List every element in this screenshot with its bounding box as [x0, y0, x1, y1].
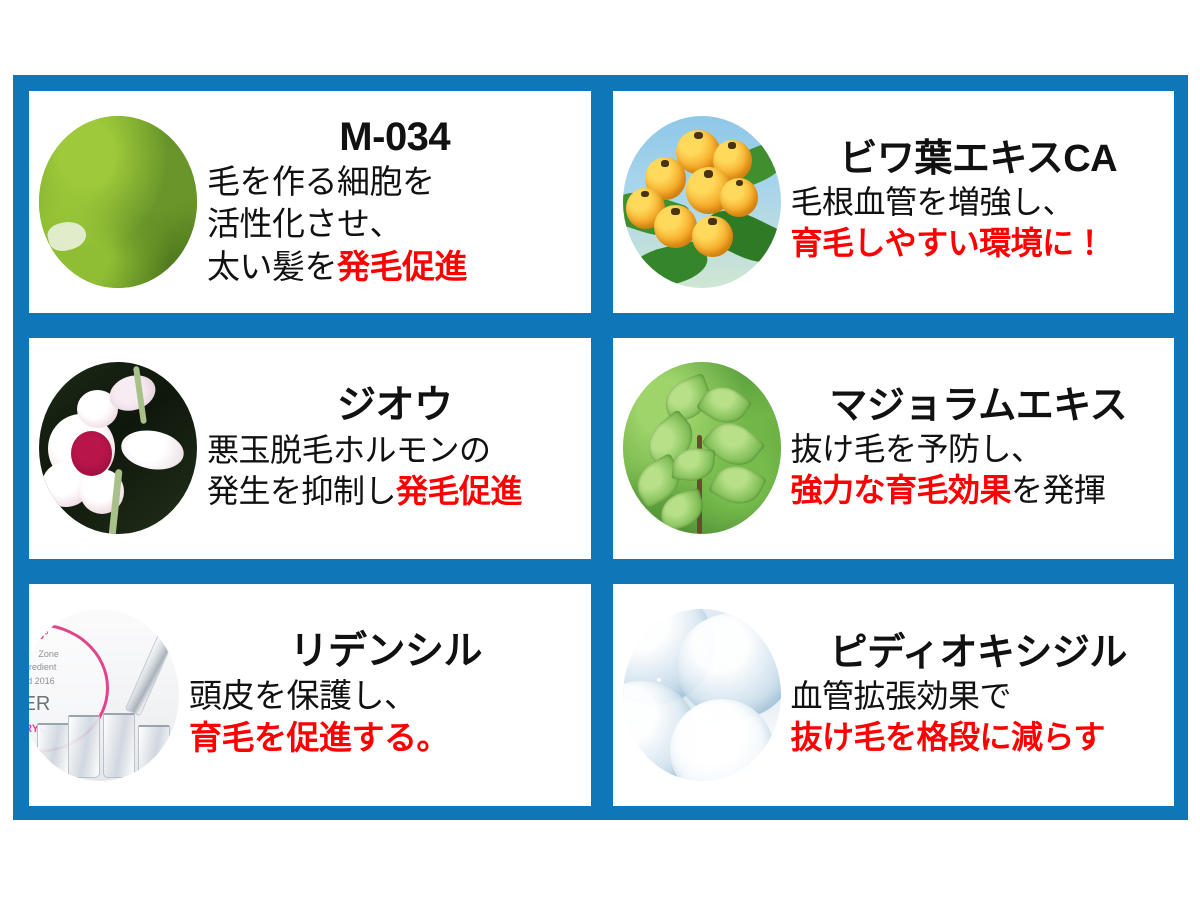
desc-span: 血管拡張効果で	[791, 678, 1012, 714]
ingredient-card-m034[interactable]: M-034 毛を作る細胞を 活性化させ、 太い髪を発毛促進	[29, 91, 591, 313]
m034-copy: M-034 毛を作る細胞を 活性化させ、 太い髪を発毛促進	[203, 116, 585, 288]
desc-highlight: 育毛を促進する。	[189, 719, 449, 756]
desc-highlight: 強力な育毛効果	[791, 472, 1012, 508]
pidioxidil-copy: ピディオキシジル 血管拡張効果で 抜け毛を格段に減らす	[787, 633, 1169, 758]
desc-span: 頭皮を保護し、	[189, 677, 417, 714]
desc-line: 活性化させ、	[207, 203, 583, 245]
desc-line: 血管拡張効果で	[791, 676, 1167, 717]
rehmannia-flower-photo	[39, 362, 197, 534]
desc-span: 悪玉脱毛ホルモンの	[207, 432, 491, 468]
desc-highlight: 抜け毛を格段に減らす	[791, 719, 1105, 755]
ingredient-grid: M-034 毛を作る細胞を 活性化させ、 太い髪を発毛促進	[13, 75, 1188, 820]
petal-shape	[118, 426, 187, 474]
ingredient-card-marjoram[interactable]: マジョラムエキス 抜け毛を予防し、 強力な育毛効果を発揮	[613, 338, 1175, 560]
ingredient-title: ジオウ	[207, 385, 583, 427]
ingredient-card-jiou[interactable]: ジオウ 悪玉脱毛ホルモンの 発生を抑制し発毛促進	[29, 338, 591, 560]
test-tube	[103, 713, 135, 778]
desc-span: 太い髪を	[207, 248, 337, 285]
pidioxidil-thumbnail	[623, 609, 781, 781]
ingredient-title: ピディオキシジル	[791, 633, 1167, 674]
test-tube	[37, 723, 69, 778]
ingredient-card-biwa[interactable]: ビワ葉エキスCA 毛根血管を増強し、 育毛しやすい環境に！	[613, 91, 1175, 313]
pipette-shape	[125, 624, 179, 717]
desc-highlight: 発毛促進	[396, 473, 522, 509]
badge-line: Zone	[38, 649, 59, 659]
marjoram-copy: マジョラムエキス 抜け毛を予防し、 強力な育毛効果を発揮	[787, 386, 1169, 511]
desc-line: 毛を作る細胞を	[207, 161, 583, 203]
desc-line: 抜け毛を格段に減らす	[791, 717, 1167, 758]
badge-line: ER	[29, 693, 50, 716]
desc-line: 抜け毛を予防し、	[791, 429, 1167, 470]
marjoram-herb-photo	[623, 362, 781, 534]
biwa-copy: ビワ葉エキスCA 毛根血管を増強し、 育毛しやすい環境に！	[787, 139, 1169, 264]
desc-highlight: 育毛しやすい環境に！	[791, 225, 1106, 261]
desc-span: 毛根血管を増強し、	[791, 184, 1075, 220]
laboratory-pipette-photo: S° Zone redient rd 2016 ER RYL	[29, 609, 179, 781]
desc-line: 育毛を促進する。	[189, 717, 583, 759]
desc-line: 太い髪を発毛促進	[207, 246, 583, 288]
desc-line: 育毛しやすい環境に！	[791, 223, 1167, 264]
badge-line: rd 2016	[29, 676, 55, 686]
desc-line: 頭皮を保護し、	[189, 675, 583, 717]
ingredient-title: マジョラムエキス	[791, 386, 1167, 427]
bubble-speck	[714, 668, 718, 672]
redensyl-thumbnail: S° Zone redient rd 2016 ER RYL	[29, 609, 179, 781]
loquat-fruit-photo	[623, 116, 781, 288]
marjoram-thumbnail	[623, 362, 781, 534]
ingredient-card-pidioxidil[interactable]: ピディオキシジル 血管拡張効果で 抜け毛を格段に減らす	[613, 584, 1175, 806]
badge-line: redient	[29, 662, 56, 672]
desc-span: を発揮	[1011, 472, 1106, 508]
desc-span: 発生を抑制し	[207, 473, 396, 509]
fruit-shape	[692, 216, 733, 257]
desc-line: 毛根血管を増強し、	[791, 182, 1167, 223]
flower-core	[71, 431, 112, 476]
desc-span: 活性化させ、	[207, 205, 402, 242]
desc-line: 発生を抑制し発毛促進	[207, 471, 583, 512]
test-tube	[68, 715, 100, 778]
desc-line: 強力な育毛効果を発揮	[791, 470, 1167, 511]
green-seaweed-leaves-photo	[39, 116, 197, 288]
ingredient-title: リデンシル	[189, 631, 583, 673]
fruit-shape	[720, 178, 758, 218]
jiou-copy: ジオウ 悪玉脱毛ホルモンの 発生を抑制し発毛促進	[203, 385, 585, 511]
biwa-thumbnail	[623, 116, 781, 288]
m034-thumbnail	[39, 116, 197, 288]
desc-span: 抜け毛を予防し、	[791, 431, 1043, 467]
redensyl-copy: リデンシル 頭皮を保護し、 育毛を促進する。	[185, 631, 585, 760]
test-tube	[138, 725, 170, 778]
jiou-thumbnail	[39, 362, 197, 534]
clear-gel-bubbles-photo	[623, 609, 781, 781]
ingredient-title: ビワ葉エキスCA	[791, 139, 1167, 180]
desc-line: 悪玉脱毛ホルモンの	[207, 430, 583, 471]
desc-highlight: 発毛促進	[337, 248, 467, 285]
badge-mark: S°	[37, 630, 49, 642]
ingredient-title: M-034	[207, 116, 583, 159]
desc-span: 毛を作る細胞を	[207, 163, 435, 200]
ingredient-card-redensyl[interactable]: S° Zone redient rd 2016 ER RYL リデンシル 頭皮を…	[29, 584, 591, 806]
fruit-shape	[654, 205, 697, 248]
